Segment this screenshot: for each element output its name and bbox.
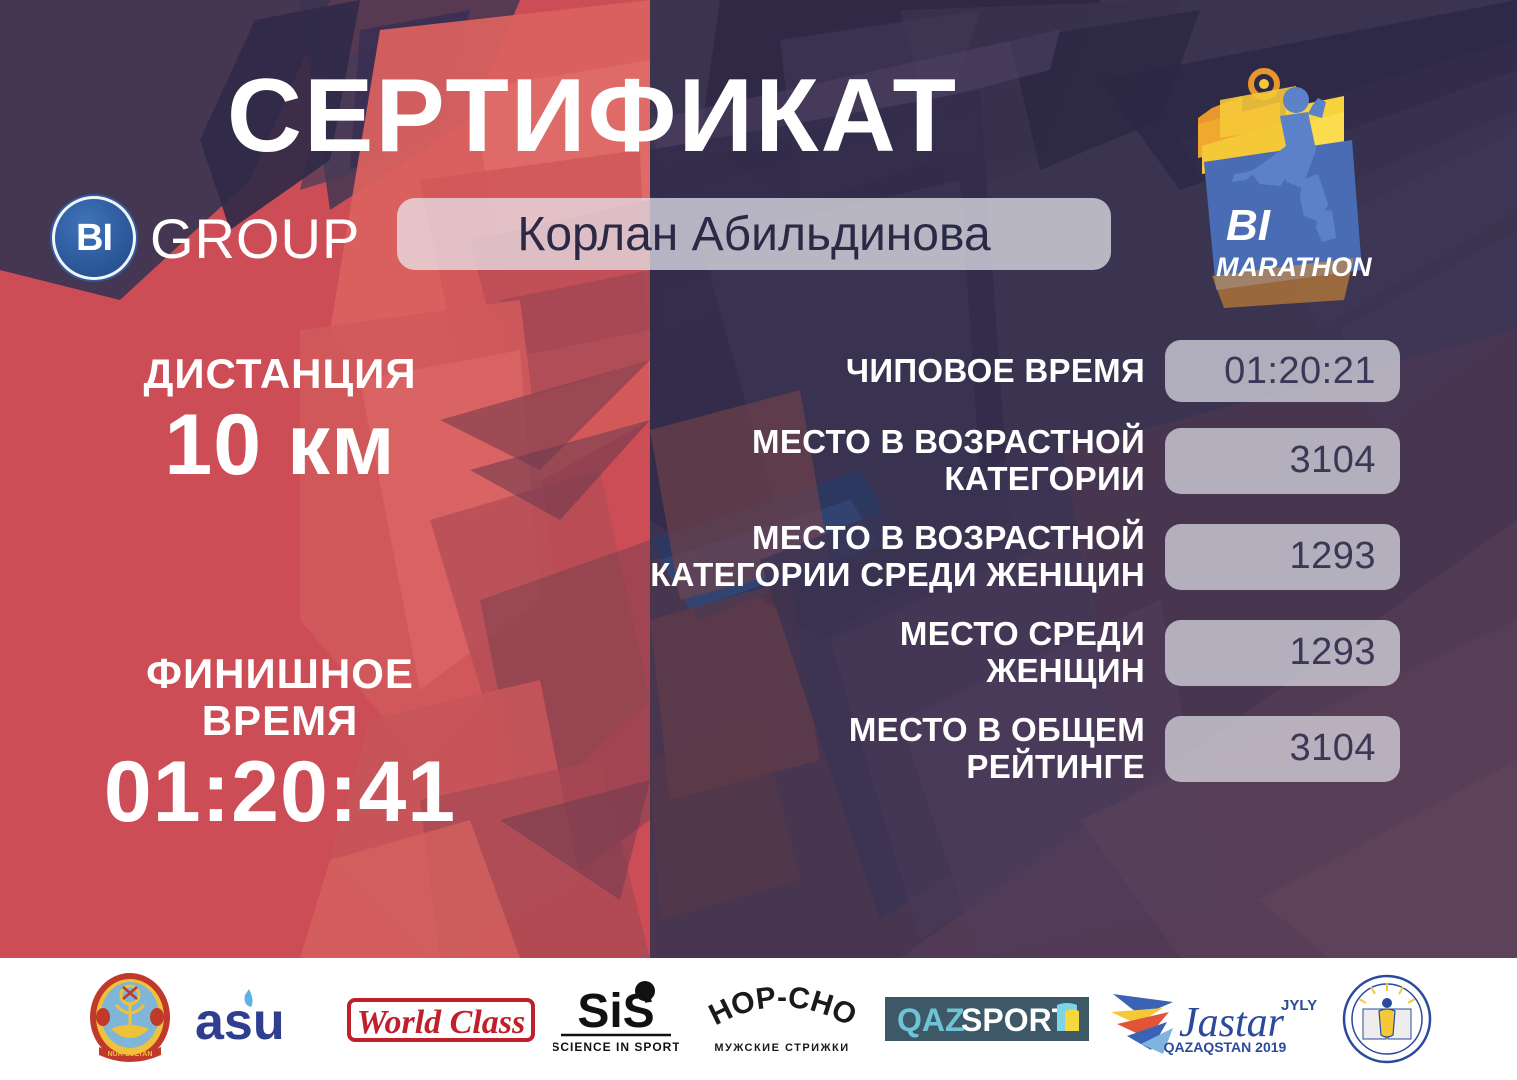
finish-time-value: 01:20:41 xyxy=(0,744,560,840)
stat-label: МЕСТО СРЕДИ ЖЕНЩИН xyxy=(520,616,1165,690)
stat-label-line2: КАТЕГОРИИ xyxy=(520,461,1145,498)
stat-label-line1: МЕСТО В ВОЗРАСТНОЙ xyxy=(520,520,1145,557)
sponsor-text: NUR-SULTAN xyxy=(107,1051,152,1058)
stat-label-line2: РЕЙТИНГЕ xyxy=(520,749,1145,786)
sponsor-subtext: SCIENCE IN SPORT xyxy=(553,1040,679,1054)
stat-label: МЕСТО В ВОЗРАСТНОЙ КАТЕГОРИИ xyxy=(520,424,1165,498)
stat-row-age-category-place: МЕСТО В ВОЗРАСТНОЙ КАТЕГОРИИ 3104 xyxy=(520,424,1400,498)
stat-label-line1: МЕСТО В ВОЗРАСТНОЙ xyxy=(520,424,1145,461)
stat-row-overall-place: МЕСТО В ОБЩЕМ РЕЙТИНГЕ 3104 xyxy=(520,712,1400,786)
page-title: СЕРТИФИКАТ xyxy=(0,62,1185,171)
sponsor-subtext: МУЖСКИЕ СТРИЖКИ xyxy=(714,1042,849,1054)
sponsor-jastar-jyly-logo: Jastar JYLY QAZAQSTAN 2019 xyxy=(1107,971,1323,1067)
sponsor-text: World Class xyxy=(356,1004,524,1041)
distance-block: ДИСТАНЦИЯ 10 км xyxy=(0,350,560,493)
sponsor-text: asu xyxy=(195,993,285,1051)
bi-marathon-logo: BI MARATHON xyxy=(1176,62,1390,310)
athlete-name-field: Корлан Абильдинова xyxy=(397,198,1111,270)
stat-row-chip-time: ЧИПОВОЕ ВРЕМЯ 01:20:21 xyxy=(520,340,1400,402)
bi-marathon-bottom-text: MARATHON xyxy=(1216,252,1372,282)
sponsor-subtext: QAZAQSTAN 2019 xyxy=(1163,1039,1286,1055)
distance-value: 10 км xyxy=(0,397,560,493)
finish-time-label-line2: ВРЕМЯ xyxy=(0,697,560,744)
sponsor-nur-sultan-emblem: NUR-SULTAN xyxy=(85,971,175,1067)
sponsor-world-class-logo: World Class xyxy=(347,971,535,1067)
stat-value: 01:20:21 xyxy=(1165,340,1400,402)
finish-time-label-line1: ФИНИШНОЕ xyxy=(0,650,560,697)
bi-group-mark-icon: BI xyxy=(52,196,136,280)
stat-value: 1293 xyxy=(1165,620,1400,686)
certificate-canvas: СЕРТИФИКАТ BI GROUP Корлан Абильдинова xyxy=(0,0,1517,1080)
sponsor-asu-logo: asu xyxy=(193,971,329,1067)
sponsor-sis-logo: SiS SCIENCE IN SPORT xyxy=(553,971,679,1067)
stat-label: МЕСТО В ОБЩЕМ РЕЙТИНГЕ xyxy=(520,712,1165,786)
stat-row-age-category-women-place: МЕСТО В ВОЗРАСТНОЙ КАТЕГОРИИ СРЕДИ ЖЕНЩИ… xyxy=(520,520,1400,594)
stat-value: 3104 xyxy=(1165,428,1400,494)
stat-label-line1: МЕСТО СРЕДИ xyxy=(520,616,1145,653)
sponsor-text-b: SPORT xyxy=(961,1002,1072,1038)
sponsor-qazsport-logo: QAZ SPORT xyxy=(885,971,1089,1067)
bi-group-wordmark: GROUP xyxy=(150,206,360,271)
bi-marathon-top-text: BI xyxy=(1226,201,1271,250)
stat-value: 3104 xyxy=(1165,716,1400,782)
stat-label-line2: ЖЕНЩИН xyxy=(520,653,1145,690)
stat-label-line1: МЕСТО В ОБЩЕМ xyxy=(520,712,1145,749)
stat-label-line1: ЧИПОВОЕ ВРЕМЯ xyxy=(520,353,1145,390)
sponsor-suptext: JYLY xyxy=(1281,997,1317,1014)
finish-time-block: ФИНИШНОЕ ВРЕМЯ 01:20:41 xyxy=(0,650,560,840)
sponsor-text: CHOP-CHOP xyxy=(697,979,862,1033)
stats-list: ЧИПОВОЕ ВРЕМЯ 01:20:21 МЕСТО В ВОЗРАСТНО… xyxy=(520,340,1400,808)
athlete-name-text: Корлан Абильдинова xyxy=(517,207,990,262)
sponsor-text-a: QAZ xyxy=(897,1002,965,1038)
sponsor-ministry-emblem xyxy=(1341,971,1433,1067)
distance-label: ДИСТАНЦИЯ xyxy=(0,350,560,397)
sponsor-bar: NUR-SULTAN asu World Class SiS SC xyxy=(0,958,1517,1080)
stat-row-women-place: МЕСТО СРЕДИ ЖЕНЩИН 1293 xyxy=(520,616,1400,690)
stat-label: МЕСТО В ВОЗРАСТНОЙ КАТЕГОРИИ СРЕДИ ЖЕНЩИ… xyxy=(520,520,1165,594)
sponsor-chop-chop-logo: CHOP-CHOP МУЖСКИЕ СТРИЖКИ xyxy=(697,971,867,1067)
stat-label-line2: КАТЕГОРИИ СРЕДИ ЖЕНЩИН xyxy=(520,557,1145,594)
stat-label: ЧИПОВОЕ ВРЕМЯ xyxy=(520,353,1165,390)
bi-group-logo: BI GROUP xyxy=(52,196,360,280)
stat-value: 1293 xyxy=(1165,524,1400,590)
